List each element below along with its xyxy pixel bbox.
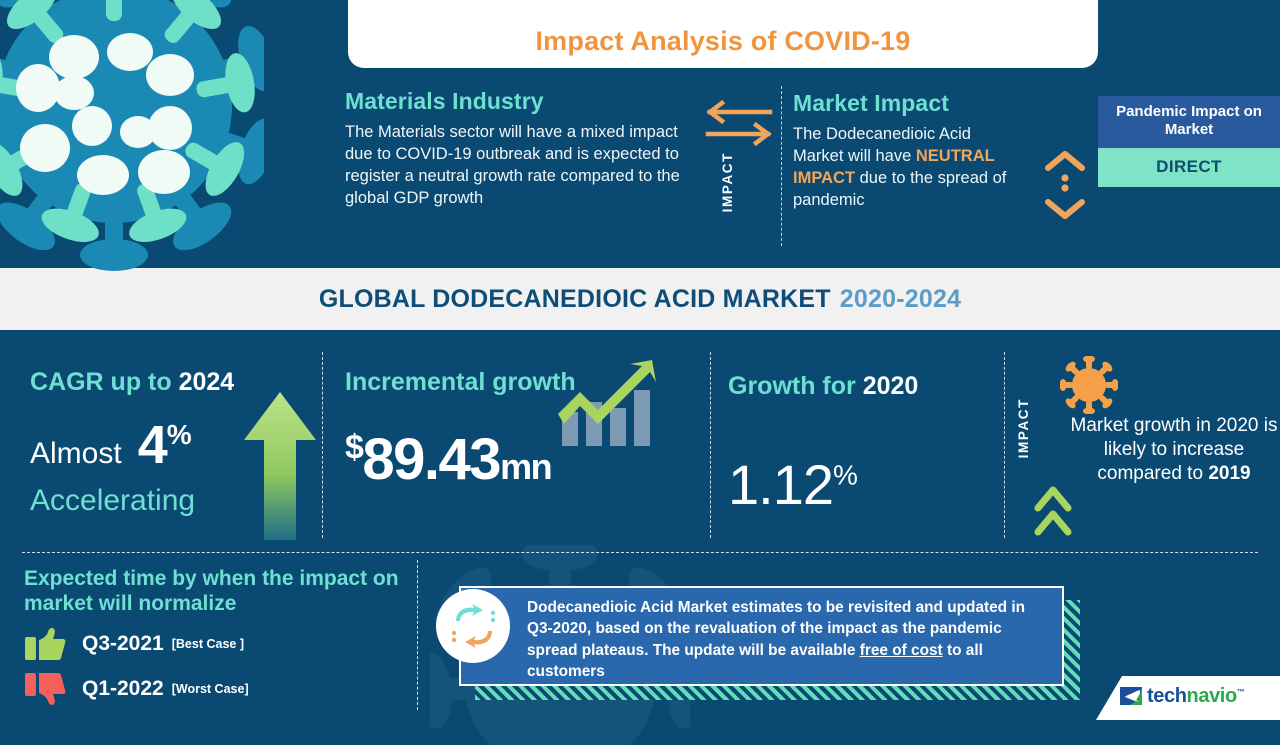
normalize-case-worst: Q1-2022 [Worst Case]	[24, 672, 424, 706]
infographic-canvas: Impact Analysis of COVID-19 Materials In…	[0, 0, 1280, 720]
double-chevron-vertical-icon	[1040, 150, 1090, 220]
materials-industry-heading: Materials Industry	[345, 88, 695, 115]
normalize-case-worst-quarter: Q1-2022	[82, 677, 164, 701]
horizontal-dashed-divider	[22, 552, 1258, 553]
kpi-divider-2	[710, 352, 711, 538]
kpi-growth-2020-label: Growth for 2020	[728, 372, 1008, 400]
logo-trademark: ™	[1237, 687, 1245, 696]
kpi-cagr-value: 4%	[138, 414, 191, 476]
kpi-incremental-growth-number: 89.43	[362, 427, 500, 492]
page-title: Impact Analysis of COVID-19	[535, 26, 910, 68]
kpi-divider-1	[322, 352, 323, 538]
technavio-arrow-icon	[1118, 684, 1144, 708]
market-title-main: GLOBAL DODECANEDIOIC ACID MARKET	[319, 285, 831, 314]
pandemic-impact-badge-heading: Pandemic Impact on Market	[1098, 96, 1280, 148]
coronavirus-icon	[0, 0, 264, 290]
impact-right-label: IMPACT	[1016, 398, 1031, 458]
materials-industry-body: The Materials sector will have a mixed i…	[345, 122, 695, 210]
normalize-case-worst-tag: [Worst Case]	[172, 682, 249, 696]
market-impact-body: The Dodecanedioic Acid Market will have …	[793, 124, 1008, 212]
impact-right-text: Market growth in 2020 is likely to incre…	[1068, 414, 1280, 485]
normalize-heading: Expected time by when the impact on mark…	[24, 566, 424, 616]
normalize-block: Expected time by when the impact on mark…	[24, 566, 424, 706]
logo-text-1: tech	[1147, 685, 1187, 707]
pandemic-impact-badge: Pandemic Impact on Market DIRECT	[1098, 96, 1280, 187]
normalize-case-best-tag: [Best Case ]	[172, 637, 244, 651]
upward-arrow-icon	[244, 392, 316, 540]
impact-right-text-year: 2019	[1208, 463, 1250, 484]
kpi-cagr-prefix: Almost	[30, 437, 122, 471]
thumbs-down-icon	[24, 672, 66, 706]
logo-text-2: navio	[1187, 685, 1237, 707]
vertical-dashed-divider-1	[781, 86, 782, 246]
kpi-cagr-label-year: 2024	[179, 368, 235, 396]
pandemic-impact-badge-value: DIRECT	[1098, 148, 1280, 187]
kpi-cagr-unit: %	[167, 419, 191, 450]
note-text: Dodecanedioic Acid Market estimates to b…	[527, 597, 1046, 682]
kpi-incremental-growth-unit: mn	[500, 446, 551, 487]
impact-divider: IMPACT	[700, 100, 778, 240]
market-title: GLOBAL DODECANEDIOIC ACID MARKET 2020-20…	[0, 268, 1280, 330]
note-box: Dodecanedioic Acid Market estimates to b…	[459, 586, 1064, 686]
kpi-growth-2020: Growth for 2020 1.12%	[728, 372, 1008, 517]
double-chevron-up-icon	[1032, 480, 1074, 542]
kpi-cagr-number: 4	[138, 415, 167, 475]
materials-industry-column: Materials Industry The Materials sector …	[345, 88, 695, 210]
technavio-wordmark: technavio™	[1147, 685, 1244, 708]
market-impact-heading: Market Impact	[793, 90, 1008, 117]
bidirectional-arrow-icon	[700, 100, 778, 152]
normalize-case-best: Q3-2021 [Best Case ]	[24, 627, 424, 661]
normalize-case-best-quarter: Q3-2021	[82, 632, 164, 656]
market-impact-column: Market Impact The Dodecanedioic Acid Mar…	[793, 90, 1008, 212]
coronavirus-orange-icon	[1060, 356, 1118, 414]
technavio-logo: technavio™	[1118, 684, 1244, 708]
impact-right-block: IMPACT Market growth in 2020 is likely t…	[1012, 352, 1280, 552]
market-title-years: 2020-2024	[840, 285, 961, 314]
kpi-growth-2020-number: 1.12	[728, 453, 833, 516]
kpi-growth-2020-unit: %	[833, 459, 857, 490]
vertical-dashed-divider-3	[417, 560, 418, 710]
kpi-growth-2020-label-accent: Growth for	[728, 372, 863, 400]
growth-chart-icon	[556, 358, 664, 450]
kpi-incremental-growth-currency: $	[345, 429, 362, 467]
header-card: Impact Analysis of COVID-19	[348, 0, 1098, 68]
thumbs-up-icon	[24, 627, 66, 661]
kpi-cagr-label-accent: CAGR up to	[30, 368, 179, 396]
note-text-underlined: free of cost	[860, 642, 943, 659]
refresh-cycle-icon	[450, 603, 498, 649]
kpi-growth-2020-label-year: 2020	[863, 372, 919, 400]
kpi-growth-2020-value: 1.12%	[728, 452, 1008, 517]
impact-divider-label: IMPACT	[720, 152, 735, 212]
